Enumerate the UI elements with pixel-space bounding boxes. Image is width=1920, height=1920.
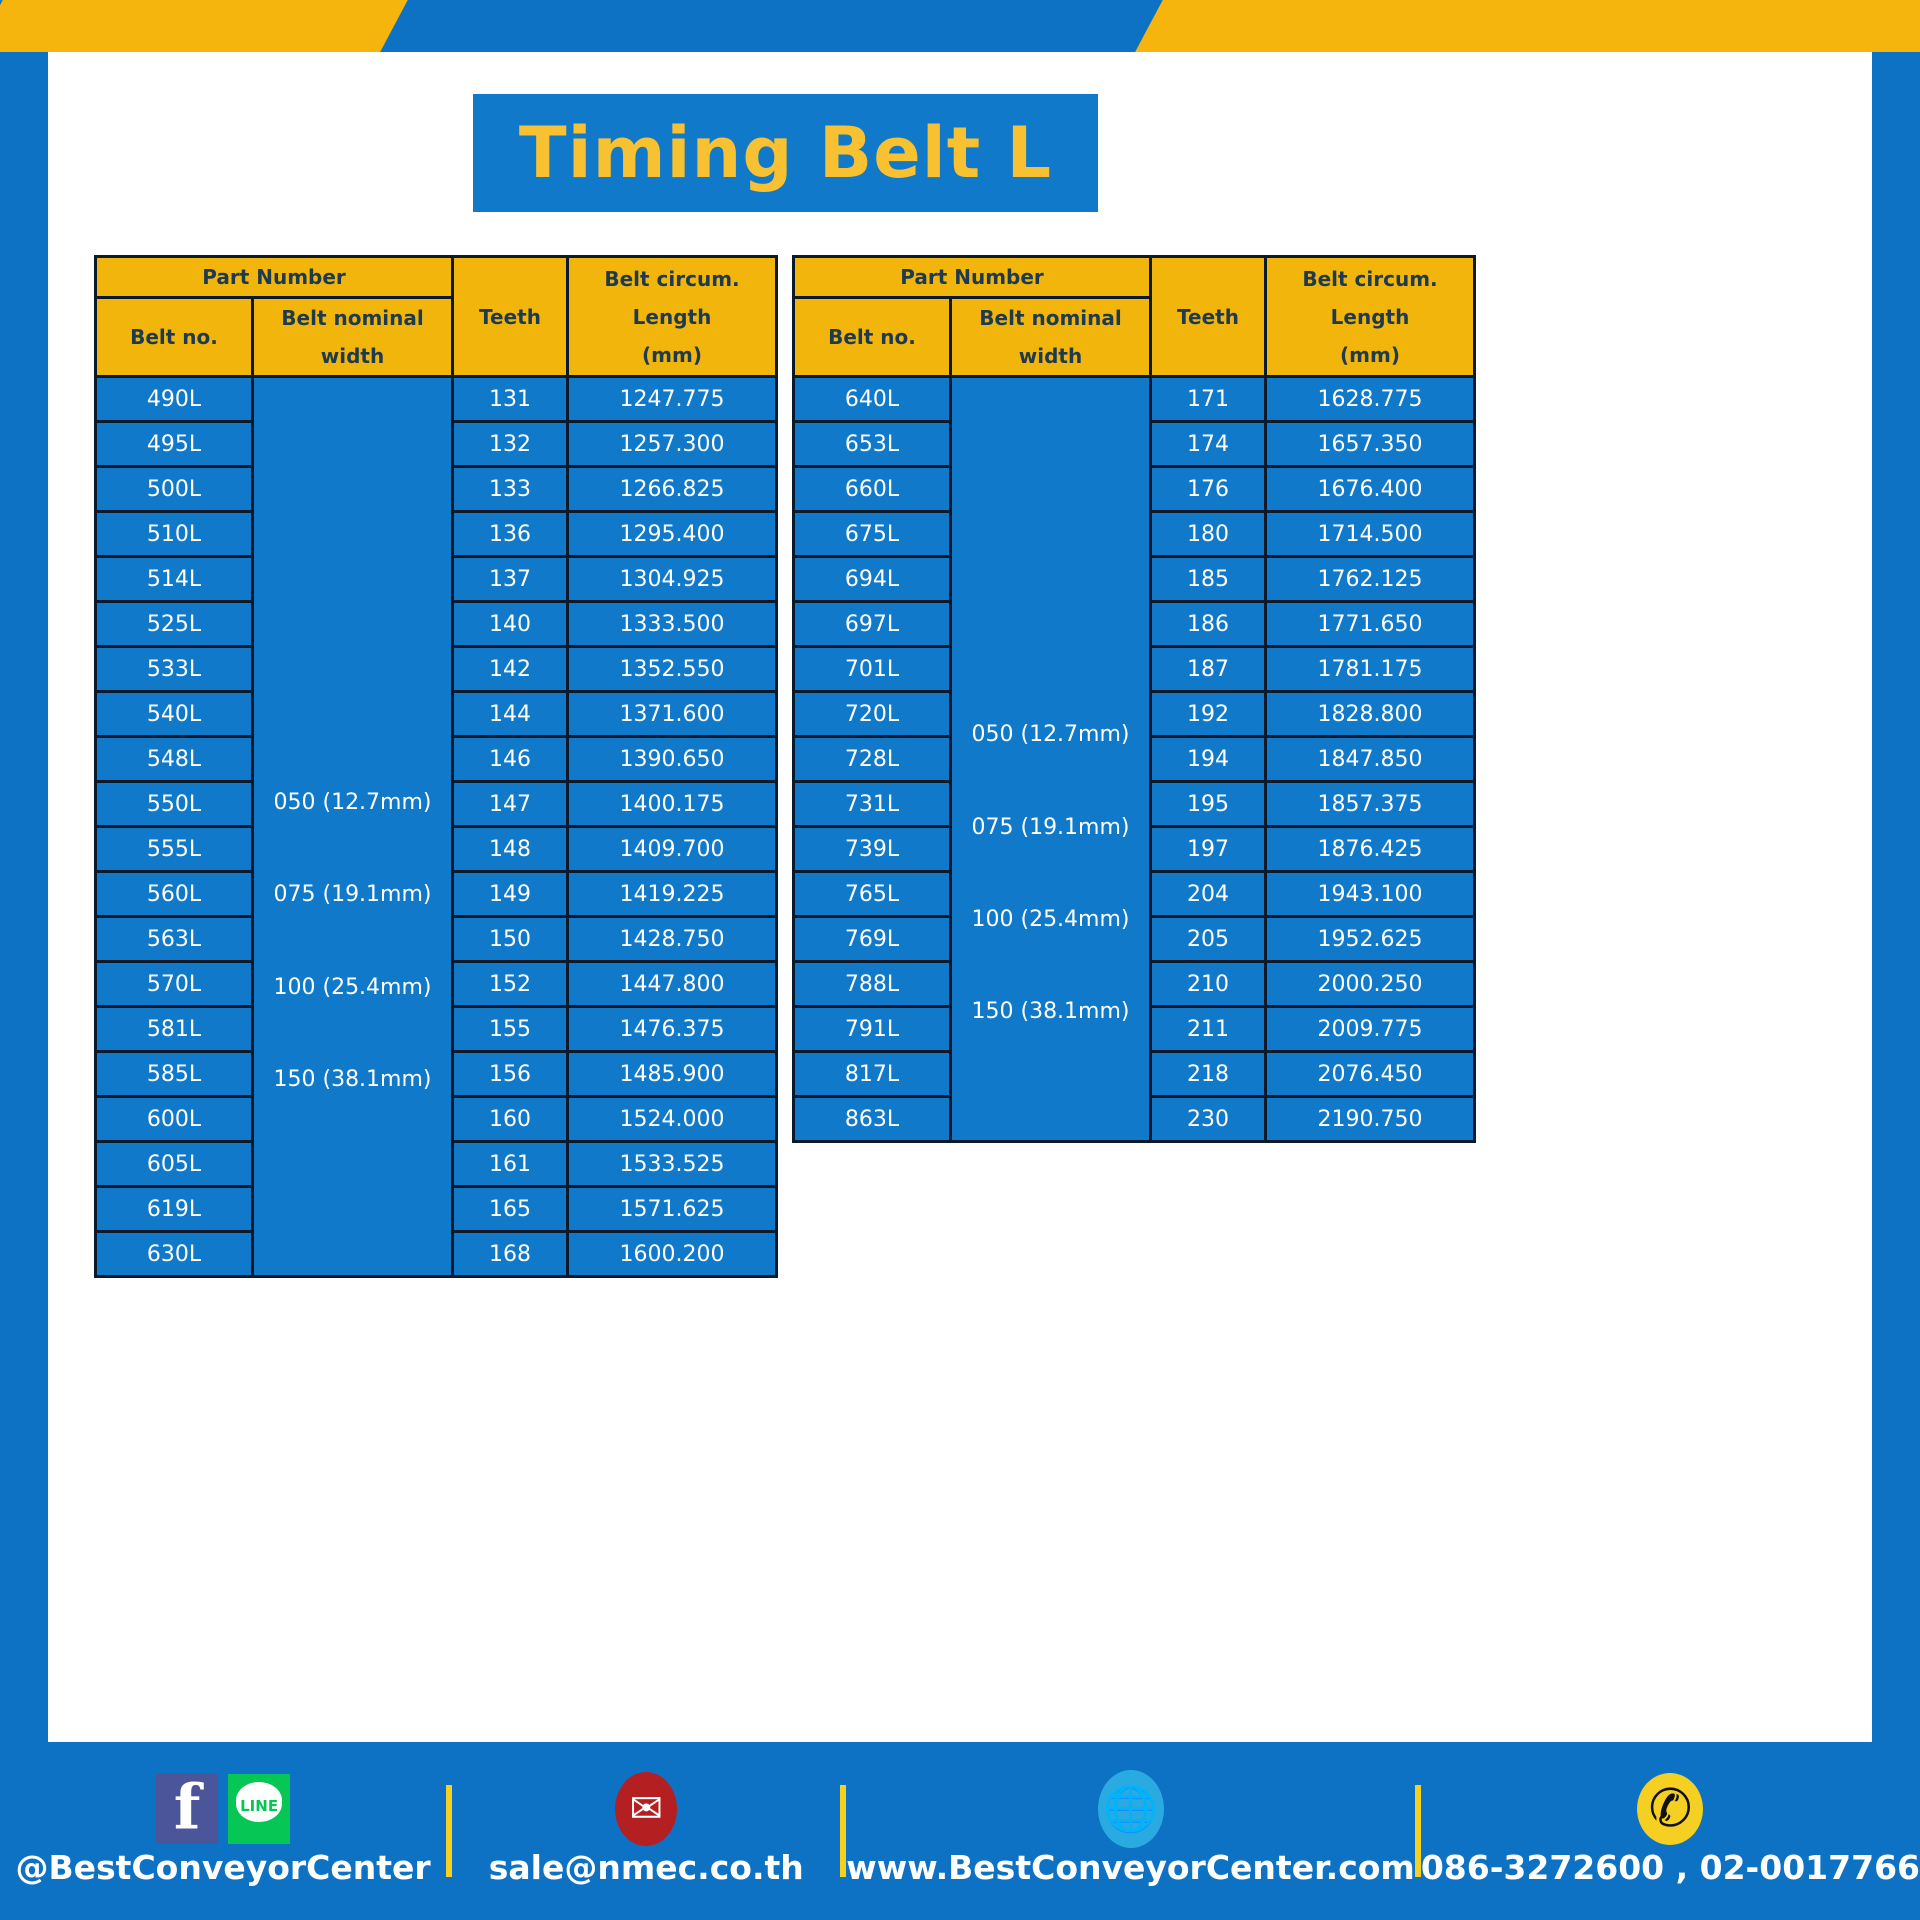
header-belt-circum-line3: (mm) [642, 343, 702, 367]
footer-social[interactable]: LINE @BestConveyorCenter [0, 1776, 446, 1887]
cell-belt-no: 619L [96, 1187, 253, 1232]
footer-contact-bar: LINE @BestConveyorCenter sale@nmec.co.th… [0, 1742, 1920, 1920]
cell-belt-no: 563L [96, 917, 253, 962]
cell-belt-no: 701L [794, 647, 951, 692]
cell-teeth: 174 [1151, 422, 1266, 467]
cell-teeth: 146 [453, 737, 568, 782]
table-row: 490L050 (12.7mm)075 (19.1mm)100 (25.4mm)… [96, 377, 777, 422]
cell-length: 1400.175 [568, 782, 777, 827]
cell-teeth: 171 [1151, 377, 1266, 422]
cell-length: 1257.300 [568, 422, 777, 467]
footer-phone[interactable]: 086-3272600 , 02-0017766 [1421, 1776, 1920, 1887]
cell-length: 2009.775 [1266, 1007, 1475, 1052]
cell-teeth: 195 [1151, 782, 1266, 827]
tables-container: Part Number Teeth Belt circum. Length (m… [48, 52, 1872, 1742]
nominal-width-value: 050 (12.7mm) [254, 757, 451, 849]
cell-teeth: 131 [453, 377, 568, 422]
belt-table-left: Part Number Teeth Belt circum. Length (m… [94, 255, 778, 1278]
globe-icon[interactable] [1098, 1770, 1164, 1848]
cell-length: 1409.700 [568, 827, 777, 872]
cell-teeth: 205 [1151, 917, 1266, 962]
cell-length: 1333.500 [568, 602, 777, 647]
cell-teeth: 160 [453, 1097, 568, 1142]
nominal-width-value: 075 (19.1mm) [254, 849, 451, 941]
cell-belt-nominal-width: 050 (12.7mm)075 (19.1mm)100 (25.4mm)150 … [253, 377, 453, 1277]
cell-length: 1524.000 [568, 1097, 777, 1142]
header-belt-nominal-width: Belt nominal width [951, 298, 1151, 377]
header-belt-circum-line1: Belt circum. [604, 267, 739, 291]
cell-belt-no: 863L [794, 1097, 951, 1142]
cell-length: 1390.650 [568, 737, 777, 782]
cell-teeth: 147 [453, 782, 568, 827]
cell-belt-no: 675L [794, 512, 951, 557]
poster-root: Timing Belt L Part Number Teeth Belt cir… [0, 0, 1920, 1920]
header-belt-circum: Belt circum. Length (mm) [568, 257, 777, 377]
cell-length: 1828.800 [1266, 692, 1475, 737]
footer-email[interactable]: sale@nmec.co.th [452, 1776, 840, 1887]
header-width-line2: width [321, 344, 384, 368]
cell-teeth: 149 [453, 872, 568, 917]
cell-length: 1857.375 [1266, 782, 1475, 827]
footer-phone-icons [1637, 1776, 1703, 1842]
cell-teeth: 137 [453, 557, 568, 602]
cell-teeth: 185 [1151, 557, 1266, 602]
cell-belt-no: 550L [96, 782, 253, 827]
belt-table-right: Part Number Teeth Belt circum. Length (m… [792, 255, 1476, 1143]
cell-teeth: 186 [1151, 602, 1266, 647]
cell-length: 1628.775 [1266, 377, 1475, 422]
cell-length: 1847.850 [1266, 737, 1475, 782]
header-width-line2: width [1019, 344, 1082, 368]
footer-social-handle: @BestConveyorCenter [16, 1848, 431, 1887]
cell-teeth: 133 [453, 467, 568, 512]
cell-length: 1571.625 [568, 1187, 777, 1232]
cell-teeth: 155 [453, 1007, 568, 1052]
footer-email-icons [615, 1776, 677, 1842]
cell-teeth: 165 [453, 1187, 568, 1232]
cell-teeth: 142 [453, 647, 568, 692]
cell-belt-no: 585L [96, 1052, 253, 1097]
cell-belt-no: 525L [96, 602, 253, 647]
cell-belt-no: 728L [794, 737, 951, 782]
cell-belt-no: 490L [96, 377, 253, 422]
cell-length: 1771.650 [1266, 602, 1475, 647]
cell-belt-no: 720L [794, 692, 951, 737]
cell-length: 1876.425 [1266, 827, 1475, 872]
table-row: 640L050 (12.7mm)075 (19.1mm)100 (25.4mm)… [794, 377, 1475, 422]
cell-length: 1714.500 [1266, 512, 1475, 557]
cell-belt-no: 581L [96, 1007, 253, 1052]
cell-belt-no: 788L [794, 962, 951, 1007]
header-belt-circum-line1: Belt circum. [1302, 267, 1437, 291]
cell-belt-no: 694L [794, 557, 951, 602]
header-belt-nominal-width: Belt nominal width [253, 298, 453, 377]
cell-belt-no: 495L [96, 422, 253, 467]
cell-length: 1485.900 [568, 1052, 777, 1097]
cell-belt-no: 514L [96, 557, 253, 602]
facebook-icon[interactable] [156, 1774, 218, 1844]
cell-teeth: 210 [1151, 962, 1266, 1007]
nominal-width-value: 050 (12.7mm) [952, 689, 1149, 781]
cell-length: 2000.250 [1266, 962, 1475, 1007]
nominal-width-value: 100 (25.4mm) [254, 942, 451, 1034]
cell-belt-no: 640L [794, 377, 951, 422]
cell-teeth: 176 [1151, 467, 1266, 512]
cell-belt-no: 533L [96, 647, 253, 692]
header-belt-circum-line3: (mm) [1340, 343, 1400, 367]
cell-teeth: 136 [453, 512, 568, 557]
cell-length: 1352.550 [568, 647, 777, 692]
cell-teeth: 152 [453, 962, 568, 1007]
cell-length: 2190.750 [1266, 1097, 1475, 1142]
cell-teeth: 230 [1151, 1097, 1266, 1142]
cell-belt-no: 500L [96, 467, 253, 512]
nominal-width-value: 100 (25.4mm) [952, 874, 1149, 966]
cell-length: 1952.625 [1266, 917, 1475, 962]
cell-belt-no: 570L [96, 962, 253, 1007]
footer-website-text: www.BestConveyorCenter.com [846, 1848, 1415, 1887]
header-belt-circum: Belt circum. Length (mm) [1266, 257, 1475, 377]
cell-teeth: 197 [1151, 827, 1266, 872]
footer-phone-text: 086-3272600 , 02-0017766 [1421, 1848, 1920, 1887]
cell-length: 1419.225 [568, 872, 777, 917]
cell-length: 1371.600 [568, 692, 777, 737]
cell-teeth: 144 [453, 692, 568, 737]
cell-length: 1428.750 [568, 917, 777, 962]
cell-length: 1295.400 [568, 512, 777, 557]
cell-length: 1676.400 [1266, 467, 1475, 512]
content-card: Timing Belt L Part Number Teeth Belt cir… [48, 52, 1872, 1742]
cell-length: 1657.350 [1266, 422, 1475, 467]
cell-length: 1266.825 [568, 467, 777, 512]
cell-teeth: 194 [1151, 737, 1266, 782]
cell-belt-no: 697L [794, 602, 951, 647]
cell-belt-no: 731L [794, 782, 951, 827]
cell-length: 1247.775 [568, 377, 777, 422]
cell-length: 1476.375 [568, 1007, 777, 1052]
table-header-row-1: Part Number Teeth Belt circum. Length (m… [794, 257, 1475, 298]
cell-belt-no: 630L [96, 1232, 253, 1277]
header-belt-no: Belt no. [794, 298, 951, 377]
cell-teeth: 150 [453, 917, 568, 962]
header-belt-no: Belt no. [96, 298, 253, 377]
cell-length: 2076.450 [1266, 1052, 1475, 1097]
cell-length: 1447.800 [568, 962, 777, 1007]
cell-belt-no: 765L [794, 872, 951, 917]
cell-belt-no: 769L [794, 917, 951, 962]
header-teeth: Teeth [1151, 257, 1266, 377]
footer-website[interactable]: www.BestConveyorCenter.com [846, 1776, 1415, 1887]
line-icon[interactable]: LINE [228, 1774, 290, 1844]
chevron-decoration [230, 0, 410, 52]
cell-length: 1762.125 [1266, 557, 1475, 602]
header-belt-circum-line2: Length [633, 305, 712, 329]
nominal-width-value: 150 (38.1mm) [952, 966, 1149, 1058]
cell-length: 1600.200 [568, 1232, 777, 1277]
cell-teeth: 187 [1151, 647, 1266, 692]
cell-belt-no: 560L [96, 872, 253, 917]
cell-teeth: 218 [1151, 1052, 1266, 1097]
cell-teeth: 180 [1151, 512, 1266, 557]
footer-social-icons: LINE [156, 1776, 290, 1842]
cell-length: 1533.525 [568, 1142, 777, 1187]
cell-teeth: 140 [453, 602, 568, 647]
header-part-number: Part Number [794, 257, 1151, 298]
cell-length: 1781.175 [1266, 647, 1475, 692]
header-part-number: Part Number [96, 257, 453, 298]
header-belt-circum-line2: Length [1331, 305, 1410, 329]
cell-teeth: 211 [1151, 1007, 1266, 1052]
footer-email-text: sale@nmec.co.th [489, 1848, 804, 1887]
header-width-line1: Belt nominal [281, 306, 423, 330]
footer-website-icons [1098, 1776, 1164, 1842]
mail-icon[interactable] [615, 1772, 677, 1846]
cell-length: 1943.100 [1266, 872, 1475, 917]
cell-belt-no: 548L [96, 737, 253, 782]
cell-teeth: 132 [453, 422, 568, 467]
cell-teeth: 148 [453, 827, 568, 872]
cell-belt-no: 739L [794, 827, 951, 872]
header-width-line1: Belt nominal [979, 306, 1121, 330]
cell-length: 1304.925 [568, 557, 777, 602]
cell-belt-no: 510L [96, 512, 253, 557]
cell-belt-nominal-width: 050 (12.7mm)075 (19.1mm)100 (25.4mm)150 … [951, 377, 1151, 1142]
cell-belt-no: 653L [794, 422, 951, 467]
cell-belt-no: 555L [96, 827, 253, 872]
top-chevron-band [0, 0, 1920, 52]
cell-belt-no: 817L [794, 1052, 951, 1097]
cell-teeth: 204 [1151, 872, 1266, 917]
phone-icon[interactable] [1637, 1773, 1703, 1845]
nominal-width-value: 075 (19.1mm) [952, 782, 1149, 874]
nominal-width-value: 150 (38.1mm) [254, 1034, 451, 1126]
cell-belt-no: 600L [96, 1097, 253, 1142]
cell-teeth: 192 [1151, 692, 1266, 737]
line-icon-label: LINE [228, 1774, 290, 1844]
header-teeth: Teeth [453, 257, 568, 377]
cell-belt-no: 605L [96, 1142, 253, 1187]
cell-teeth: 168 [453, 1232, 568, 1277]
table-header-row-1: Part Number Teeth Belt circum. Length (m… [96, 257, 777, 298]
cell-teeth: 161 [453, 1142, 568, 1187]
cell-teeth: 156 [453, 1052, 568, 1097]
cell-belt-no: 540L [96, 692, 253, 737]
cell-belt-no: 791L [794, 1007, 951, 1052]
cell-belt-no: 660L [794, 467, 951, 512]
